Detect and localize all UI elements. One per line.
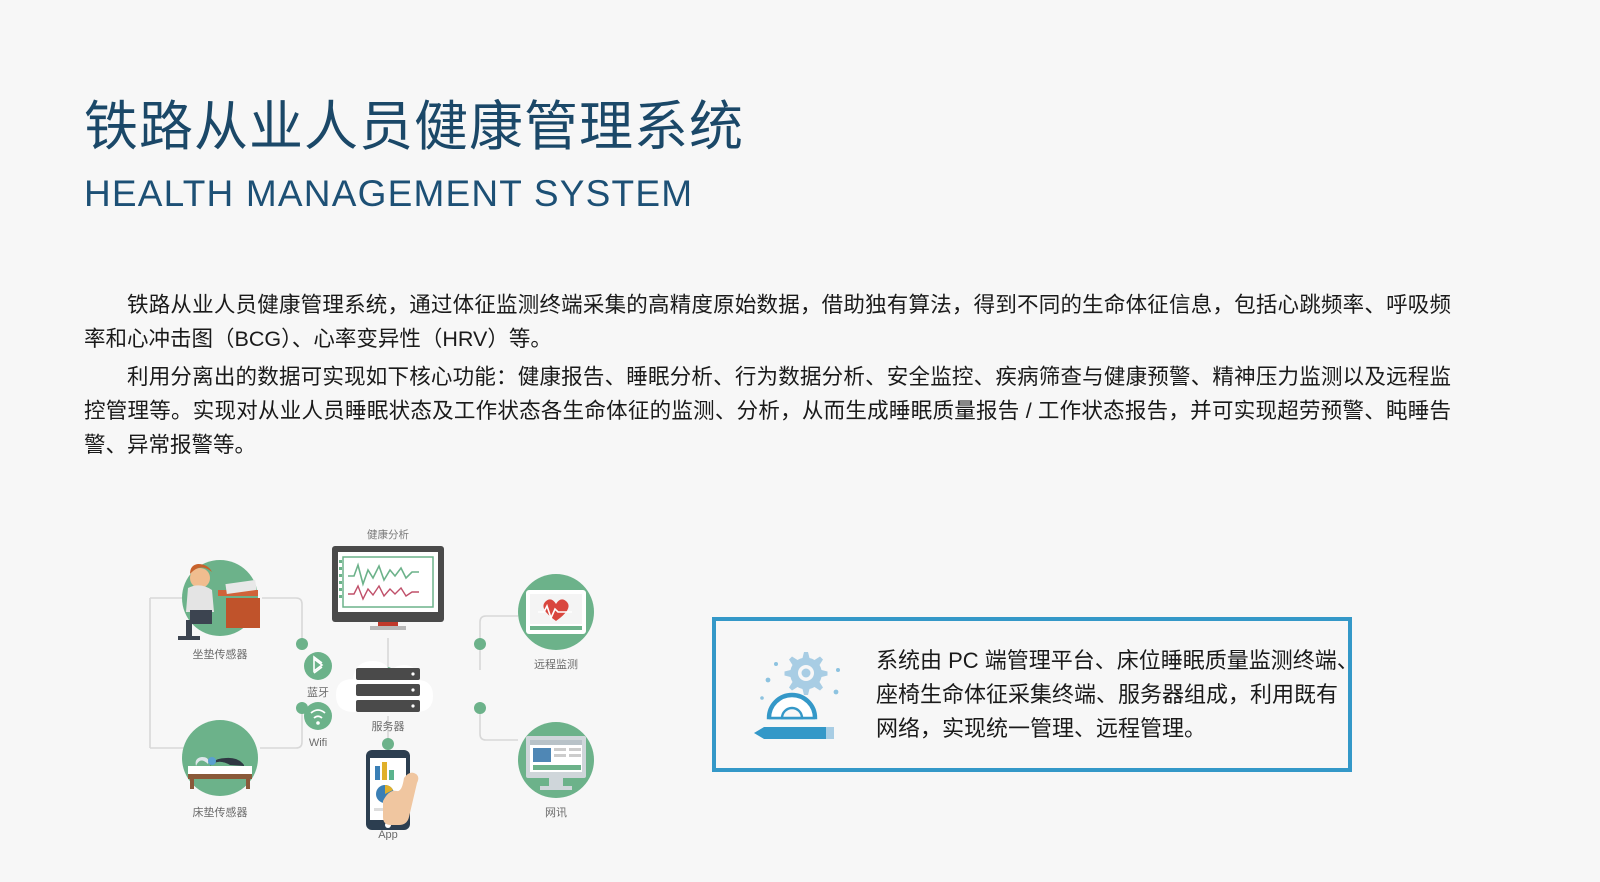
- diagram-node-remote-monitor: 远程监测: [518, 574, 594, 671]
- node-label-health-analysis: 健康分析: [367, 528, 409, 541]
- node-label-mattress-sensor: 床垫传感器: [193, 805, 248, 819]
- page-header: 铁路从业人员健康管理系统 HEALTH MANAGEMENT SYSTEM: [84, 96, 984, 216]
- paragraph-2: 利用分离出的数据可实现如下核心功能：健康报告、睡眠分析、行为数据分析、安全监控、…: [84, 360, 1451, 462]
- diagram-node-app: App: [366, 750, 418, 840]
- diagram-node-bluetooth: 蓝牙: [304, 652, 332, 699]
- paragraph-1: 铁路从业人员健康管理系统，通过体征监测终端采集的高精度原始数据，借助独有算法，得…: [84, 288, 1451, 356]
- page-subtitle: HEALTH MANAGEMENT SYSTEM: [84, 172, 984, 216]
- callout-line-3: 网络，实现统一管理、远程管理。: [876, 712, 1359, 746]
- page-title: 铁路从业人员健康管理系统: [84, 96, 984, 158]
- node-label-wifi: Wifi: [309, 737, 327, 749]
- system-architecture-diagram: 坐垫传感器 健康分析: [130, 520, 650, 840]
- slide-page: 铁路从业人员健康管理系统 HEALTH MANAGEMENT SYSTEM 铁路…: [0, 0, 1600, 882]
- callout-line-2: 座椅生命体征采集终端、服务器组成，利用既有: [876, 678, 1359, 712]
- diagram-node-server: 服务器: [336, 661, 433, 733]
- diagram-node-mattress-sensor: 床垫传感器: [182, 720, 258, 819]
- node-label-app: App: [378, 829, 398, 840]
- callout-line-1: 系统由 PC 端管理平台、床位睡眠质量监测终端、: [876, 644, 1359, 678]
- diagram-node-wifi: Wifi: [304, 702, 332, 749]
- node-label-server: 服务器: [372, 720, 405, 733]
- callout-text: 系统由 PC 端管理平台、床位睡眠质量监测终端、 座椅生命体征采集终端、服务器组…: [876, 644, 1359, 746]
- system-composition-callout: 系统由 PC 端管理平台、床位睡眠质量监测终端、 座椅生命体征采集终端、服务器组…: [712, 617, 1352, 772]
- diagram-node-seat-sensor: 坐垫传感器: [178, 560, 260, 661]
- body-copy: 铁路从业人员健康管理系统，通过体征监测终端采集的高精度原始数据，借助独有算法，得…: [84, 288, 1451, 462]
- node-label-remote-monitor: 远程监测: [534, 658, 578, 671]
- node-label-seat-sensor: 坐垫传感器: [193, 647, 248, 661]
- gears-pencil-icon: [742, 640, 862, 750]
- node-label-web: 网讯: [545, 806, 567, 819]
- node-label-bluetooth: 蓝牙: [307, 686, 329, 699]
- diagram-node-web: 网讯: [518, 722, 594, 819]
- diagram-node-health-analysis: 健康分析: [332, 528, 444, 630]
